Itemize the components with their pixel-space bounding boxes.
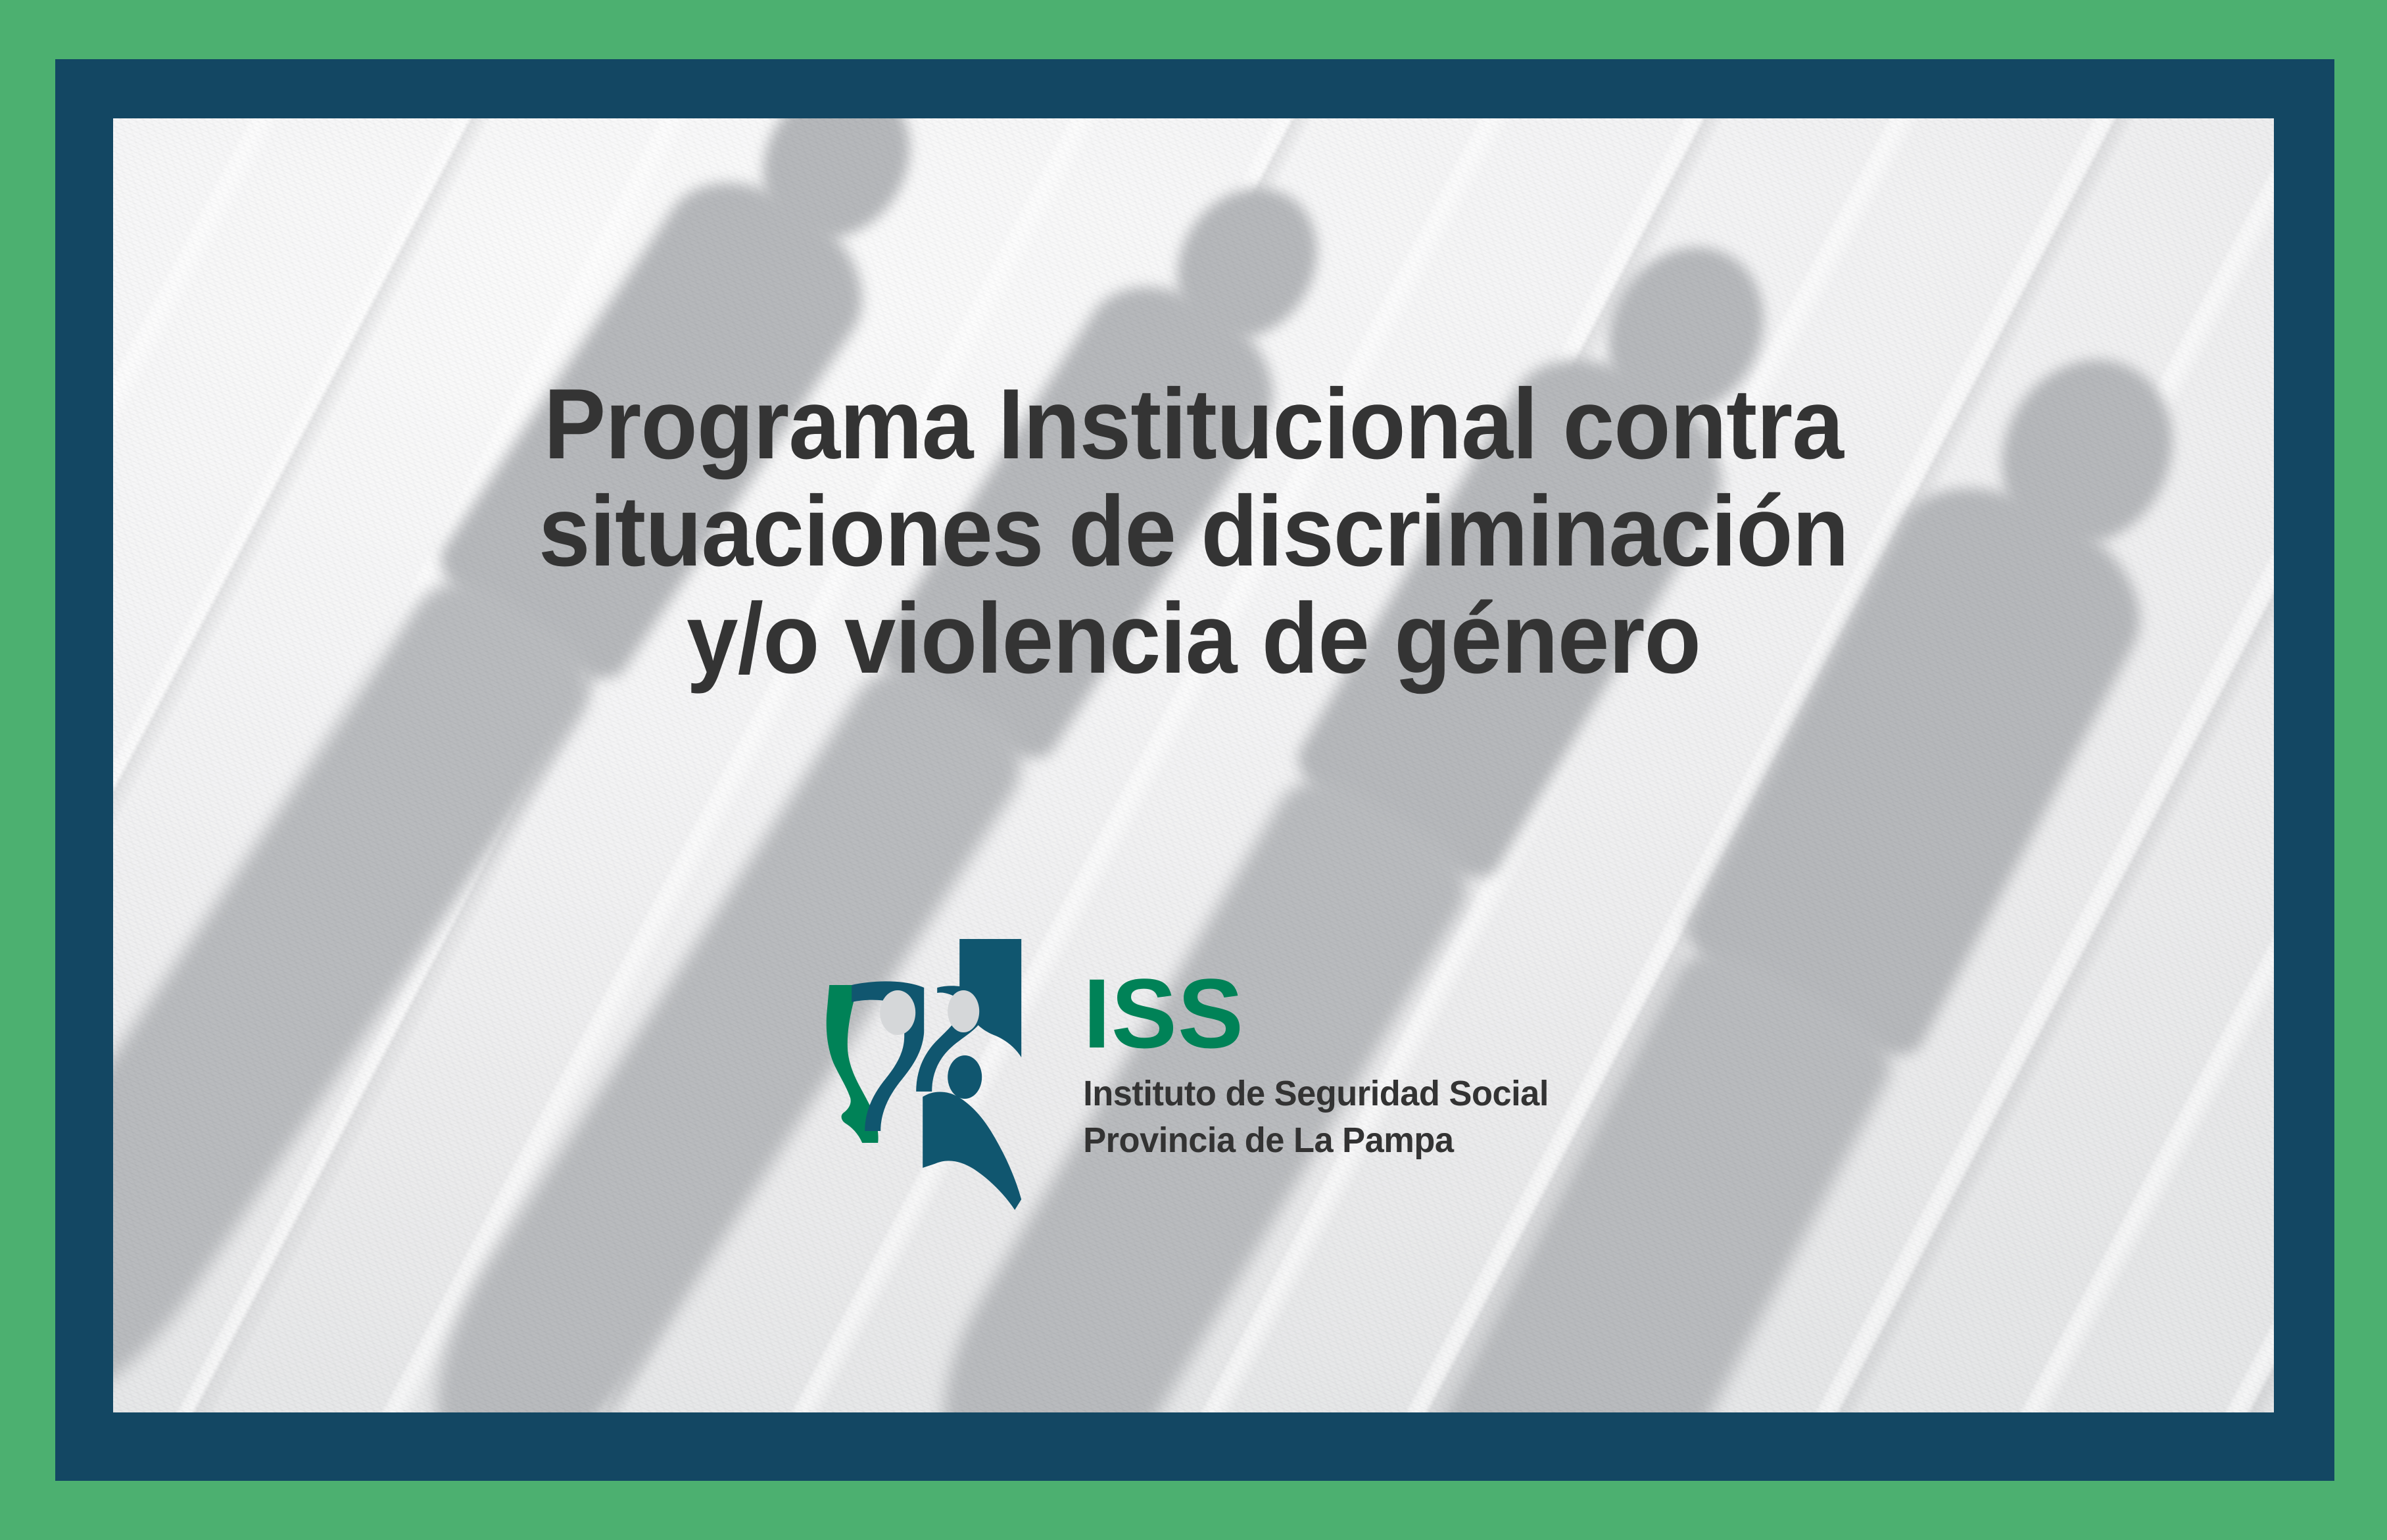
logo-head-small xyxy=(948,1055,982,1099)
logo-head-left xyxy=(880,990,915,1035)
background-photo xyxy=(113,118,2274,1412)
title-line-3: y/o violencia de género xyxy=(84,588,2303,690)
logo-acronym: ISS xyxy=(1083,968,1563,1059)
logo-figure-teal-lower xyxy=(923,1092,1021,1211)
logo-text-block: ISS Instituto de Seguridad Social Provin… xyxy=(1083,934,1563,1165)
logo-head-right xyxy=(948,990,979,1032)
iss-logomark-icon xyxy=(824,934,1054,1216)
surface-grain-texture xyxy=(113,118,2274,1412)
iss-logo: ISS Instituto de Seguridad Social Provin… xyxy=(824,934,1563,1216)
title-line-1: Programa Institucional contra xyxy=(84,373,2303,475)
title-line-2: situaciones de discriminación xyxy=(84,481,2303,583)
poster-canvas: Programa Institucional contra situacione… xyxy=(0,0,2387,1540)
page-title: Programa Institucional contra situacione… xyxy=(0,368,2387,695)
logo-subtitle-line-1: Instituto de Seguridad Social xyxy=(1083,1071,1549,1117)
logo-subtitle-line-2: Provincia de La Pampa xyxy=(1083,1117,1549,1164)
logo-subtitle: Instituto de Seguridad Social Provincia … xyxy=(1083,1071,1549,1165)
